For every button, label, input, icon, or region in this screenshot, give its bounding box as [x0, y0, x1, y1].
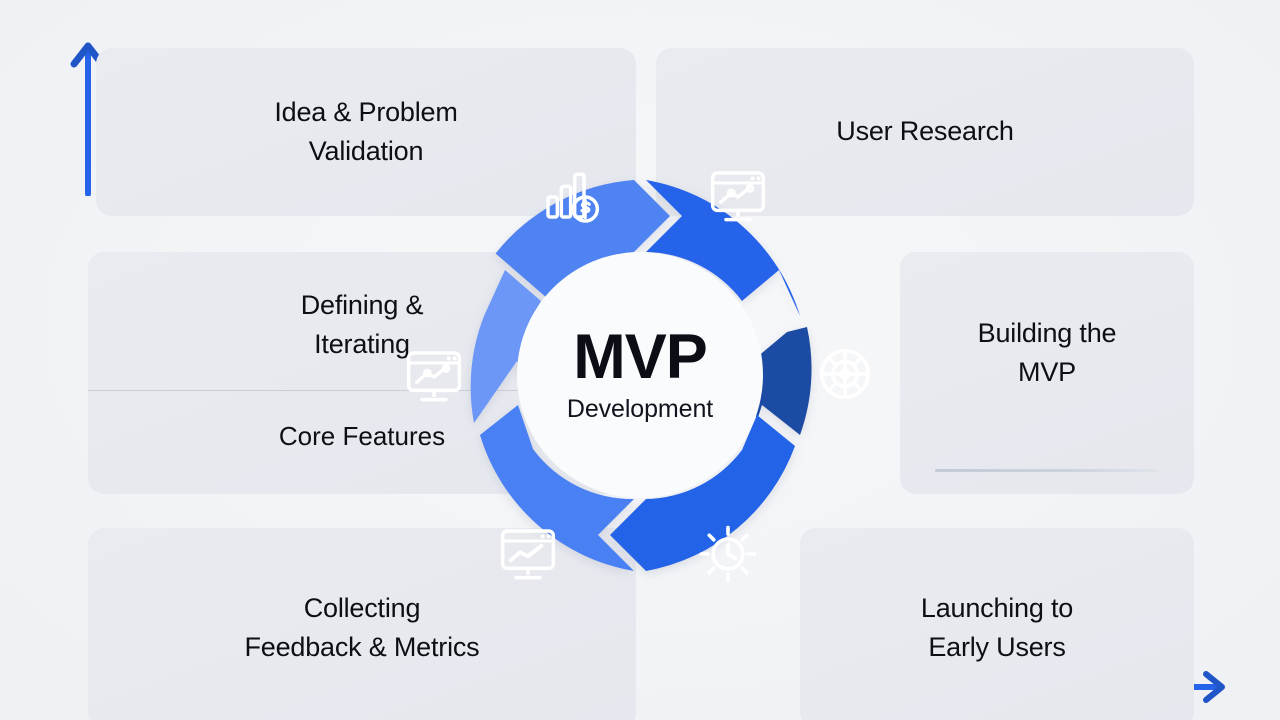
panel-label-launching-early-users: Launching to Early Users	[921, 589, 1073, 667]
panel-label-building-the-mvp: Building the MVP	[978, 314, 1117, 392]
monitor-chart-icon	[503, 531, 554, 578]
mvp-cycle-wheel	[370, 105, 910, 645]
panel-rule-building-the-mvp	[935, 469, 1157, 472]
monitor-chart-icon	[409, 353, 460, 400]
sun-clock-icon	[702, 528, 755, 581]
ship-helm-icon	[822, 351, 869, 398]
wheel-hub	[517, 252, 763, 498]
panel-building-the-mvp[interactable]: Building the MVP	[900, 252, 1194, 494]
slide-canvas: Idea & Problem Validation User Research …	[0, 0, 1280, 720]
